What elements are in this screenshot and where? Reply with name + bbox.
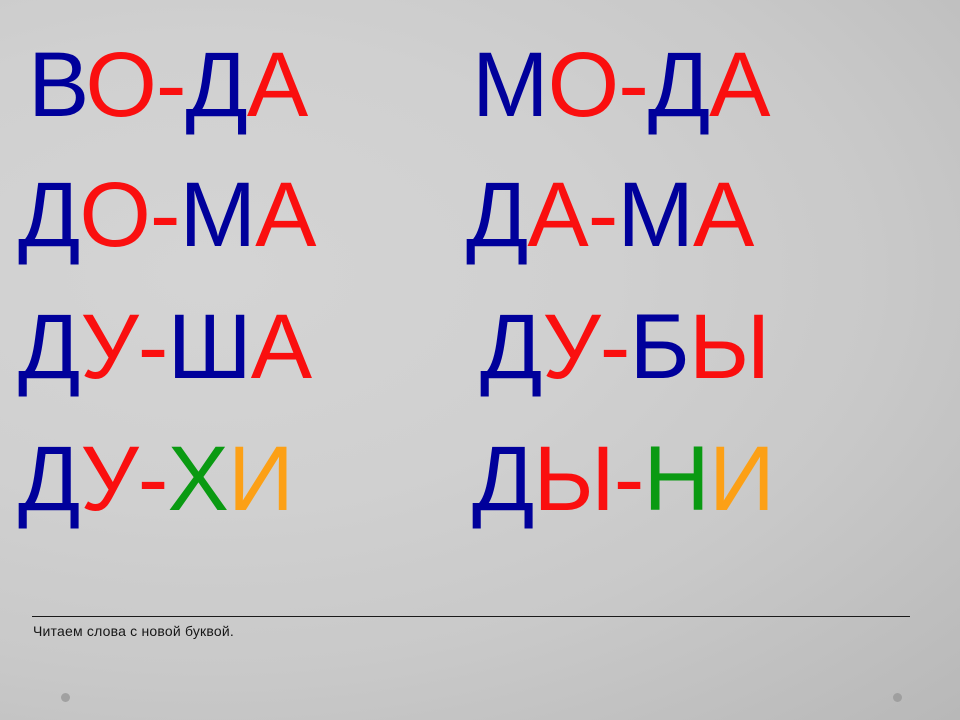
word-ДУ-ША: ДУ-ША [18,292,311,402]
letter: Д [18,296,80,398]
letter: О [79,164,150,266]
word-ДЫ-НИ: ДЫ-НИ [472,424,774,534]
letter: - [150,164,180,266]
word-row: ДО-МАДА-МА [0,156,960,288]
letter: - [138,428,168,530]
letter: А [693,164,753,266]
decorative-dot-right [893,693,902,702]
letter: А [255,164,315,266]
letter: У [80,428,137,530]
letter: А [527,164,587,266]
letter: Ы [689,296,769,398]
letter: М [180,164,256,266]
letter: У [542,296,599,398]
letter: И [228,428,293,530]
letter: А [247,34,307,136]
letter: Ы [533,428,613,530]
letter: - [618,34,648,136]
letter: О [548,34,619,136]
letter: Б [629,296,688,398]
letter: - [138,296,168,398]
letter: А [251,296,311,398]
letter: Н [643,428,708,530]
letter: - [588,164,618,266]
letter: Х [167,428,227,530]
letter: Д [18,428,80,530]
letter: О [85,34,156,136]
decorative-dot-left [61,693,70,702]
letter: Ш [167,296,250,398]
word-ДУ-ХИ: ДУ-ХИ [18,424,293,534]
letter: Д [648,34,709,136]
letter: Д [186,34,247,136]
letter: А [709,34,769,136]
letter: М [617,164,693,266]
word-ДА-МА: ДА-МА [466,160,753,270]
letter: - [156,34,186,136]
letter: И [709,428,774,530]
word-ДО-МА: ДО-МА [18,160,316,270]
letter: Д [18,164,79,266]
letter: Д [480,296,542,398]
word-row: ДУ-ХИДЫ-НИ [0,420,960,552]
word-row: ВО-ДАМО-ДА [0,24,960,156]
letter: М [472,34,548,136]
word-ДУ-БЫ: ДУ-БЫ [480,292,769,402]
slide-canvas: ВО-ДАМО-ДАДО-МАДА-МАДУ-ШАДУ-БЫДУ-ХИДЫ-НИ… [0,0,960,720]
letter: Д [466,164,527,266]
letter: В [28,34,85,136]
word-МО-ДА: МО-ДА [472,30,770,140]
word-ВО-ДА: ВО-ДА [28,30,307,140]
letter: У [80,296,137,398]
footer-caption: Читаем слова с новой буквой. [33,622,234,640]
letter: - [600,296,630,398]
letter: - [614,428,644,530]
footer-divider [32,616,910,617]
letter: Д [472,428,533,530]
word-row: ДУ-ШАДУ-БЫ [0,288,960,420]
word-grid: ВО-ДАМО-ДАДО-МАДА-МАДУ-ШАДУ-БЫДУ-ХИДЫ-НИ [0,24,960,584]
